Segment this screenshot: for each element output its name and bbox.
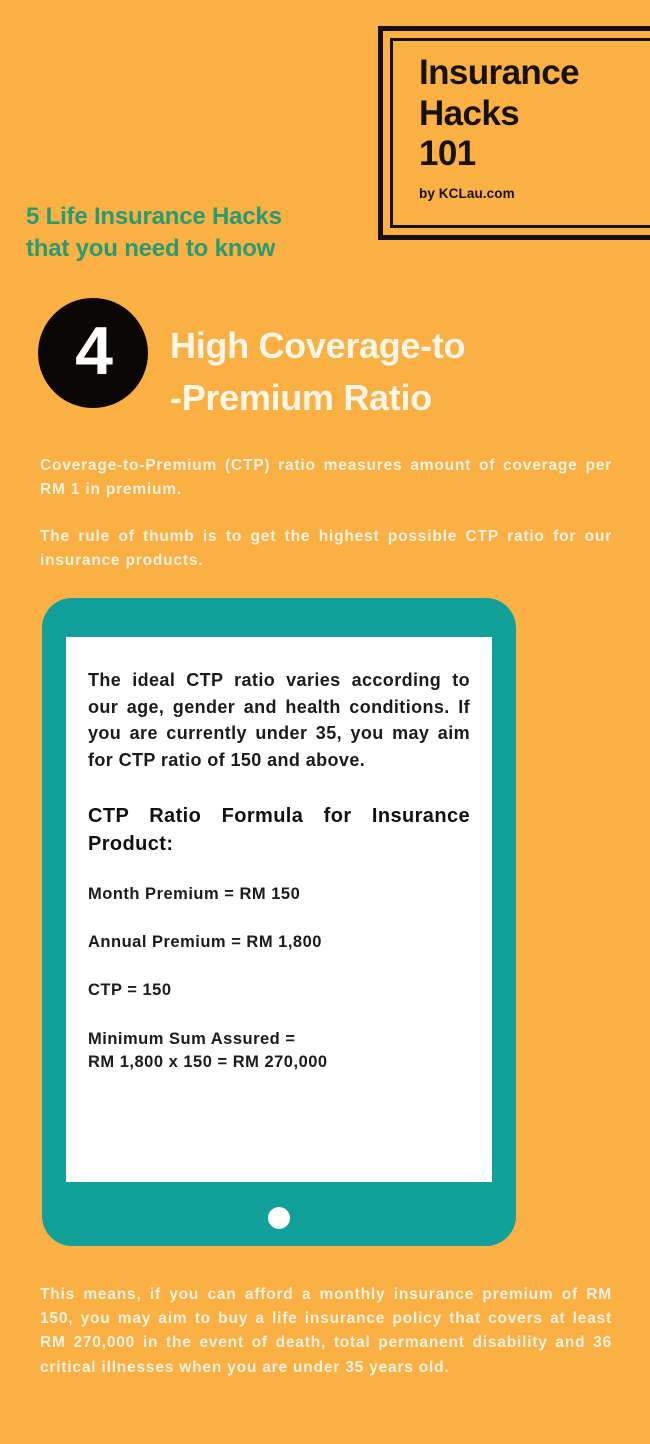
tablet-home-button-icon <box>268 1207 290 1229</box>
intro-paragraph-1: Coverage-to-Premium (CTP) ratio measures… <box>40 454 612 501</box>
series-subtitle-line-1: 5 Life Insurance Hacks <box>26 201 366 233</box>
tablet-screen: The ideal CTP ratio varies according to … <box>66 637 492 1182</box>
card-formula-line-month-premium: Month Premium = RM 150 <box>88 883 470 906</box>
card-paragraph: The ideal CTP ratio varies according to … <box>88 667 470 774</box>
intro-block: Coverage-to-Premium (CTP) ratio measures… <box>40 454 612 572</box>
card-formula-min-sum-label: Minimum Sum Assured = <box>88 1030 295 1048</box>
brand-logo-box: Insurance Hacks 101 by KCLau.com <box>378 26 650 240</box>
brand-byline: by KCLau.com <box>419 186 649 201</box>
series-subtitle-line-2: that you need to know <box>26 233 366 265</box>
intro-paragraph-2: The rule of thumb is to get the highest … <box>40 525 612 572</box>
tablet-device-frame: The ideal CTP ratio varies according to … <box>42 598 516 1246</box>
card-formula-title: CTP Ratio Formula for Insurance Product: <box>88 802 470 858</box>
section-number-badge: 4 <box>38 298 148 408</box>
card-formula-line-ctp: CTP = 150 <box>88 979 470 1002</box>
series-subtitle: 5 Life Insurance Hacks that you need to … <box>26 201 366 265</box>
section-heading-line-2: -Premium Ratio <box>170 372 620 424</box>
brand-title-line-2: Hacks <box>419 94 649 135</box>
card-formula-line-min-sum-assured: Minimum Sum Assured = RM 1,800 x 150 = R… <box>88 1028 470 1075</box>
brand-title-line-1: Insurance <box>419 53 649 94</box>
brand-title-line-3: 101 <box>419 134 649 175</box>
brand-logo-text: Insurance Hacks 101 by KCLau.com <box>419 53 649 201</box>
section-heading: High Coverage-to -Premium Ratio <box>170 320 620 424</box>
footer-paragraph: This means, if you can afford a monthly … <box>40 1283 612 1380</box>
section-heading-line-1: High Coverage-to <box>170 320 620 372</box>
card-formula-min-sum-value: RM 1,800 x 150 = RM 270,000 <box>88 1053 328 1071</box>
card-formula-line-annual-premium: Annual Premium = RM 1,800 <box>88 931 470 954</box>
footer-block: This means, if you can afford a monthly … <box>40 1283 612 1380</box>
section-number: 4 <box>75 317 113 385</box>
